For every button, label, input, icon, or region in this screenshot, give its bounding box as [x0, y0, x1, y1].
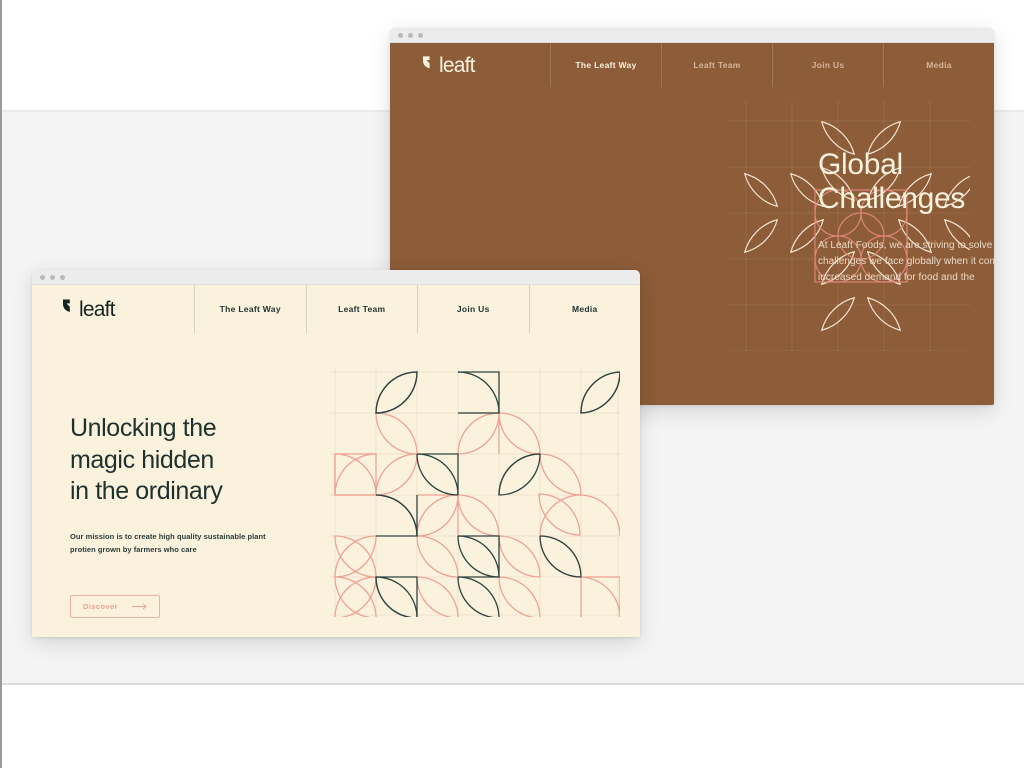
leaf-grid-pattern-icon — [330, 367, 620, 622]
nav-item-media-cream[interactable]: Media — [529, 285, 641, 333]
minimize-dot-icon[interactable] — [50, 275, 55, 280]
navbar-brown: leaft The Leaft Way Leaft Team Join Us M… — [390, 43, 994, 87]
brand-logo-brown[interactable]: leaft — [390, 43, 550, 87]
nav-item-media-brown[interactable]: Media — [883, 43, 994, 87]
hero-body-brown: At Leaft Foods, we are striving to solve… — [818, 238, 994, 287]
hero-cream: Unlocking the magic hidden in the ordina… — [70, 413, 266, 618]
nav-item-leaft-team-brown[interactable]: Leaft Team — [661, 43, 772, 87]
background-band-bottom-edge — [0, 683, 1024, 685]
brand-name-brown: leaft — [439, 55, 475, 76]
nav-item-the-leaft-way-cream[interactable]: The Leaft Way — [194, 285, 306, 333]
nav-item-join-us-brown[interactable]: Join Us — [772, 43, 883, 87]
window-titlebar-brown[interactable] — [390, 28, 994, 43]
minimize-dot-icon[interactable] — [408, 33, 413, 38]
brand-name-cream: leaft — [79, 299, 115, 320]
page-cream: leaft The Leaft Way Leaft Team Join Us M… — [32, 285, 640, 637]
arrow-right-icon — [132, 603, 148, 610]
close-dot-icon[interactable] — [40, 275, 45, 280]
discover-button[interactable]: Discover — [70, 595, 160, 618]
nav-item-leaft-team-cream[interactable]: Leaft Team — [306, 285, 418, 333]
window-titlebar-cream[interactable] — [32, 270, 640, 285]
discover-button-label: Discover — [83, 602, 118, 611]
hero-body-cream: Our mission is to create high quality su… — [70, 530, 266, 558]
leaf-mark-icon — [422, 55, 437, 76]
hero-heading-cream: Unlocking the magic hidden in the ordina… — [70, 413, 266, 508]
nav-item-join-us-cream[interactable]: Join Us — [417, 285, 529, 333]
leaf-mark-icon — [62, 298, 77, 320]
navbar-cream: leaft The Leaft Way Leaft Team Join Us M… — [32, 285, 640, 333]
screenshot-canvas: leaft The Leaft Way Leaft Team Join Us M… — [0, 0, 1024, 768]
background-left-edge — [0, 0, 2, 768]
maximize-dot-icon[interactable] — [60, 275, 65, 280]
browser-window-unlocking-the-magic[interactable]: leaft The Leaft Way Leaft Team Join Us M… — [32, 270, 640, 637]
close-dot-icon[interactable] — [398, 33, 403, 38]
brand-logo-cream[interactable]: leaft — [32, 285, 194, 333]
nav-item-the-leaft-way-brown[interactable]: The Leaft Way — [550, 43, 661, 87]
maximize-dot-icon[interactable] — [418, 33, 423, 38]
hero-heading-brown: Global Challenges — [818, 148, 994, 216]
hero-brown: Global Challenges At Leaft Foods, we are… — [818, 148, 994, 286]
